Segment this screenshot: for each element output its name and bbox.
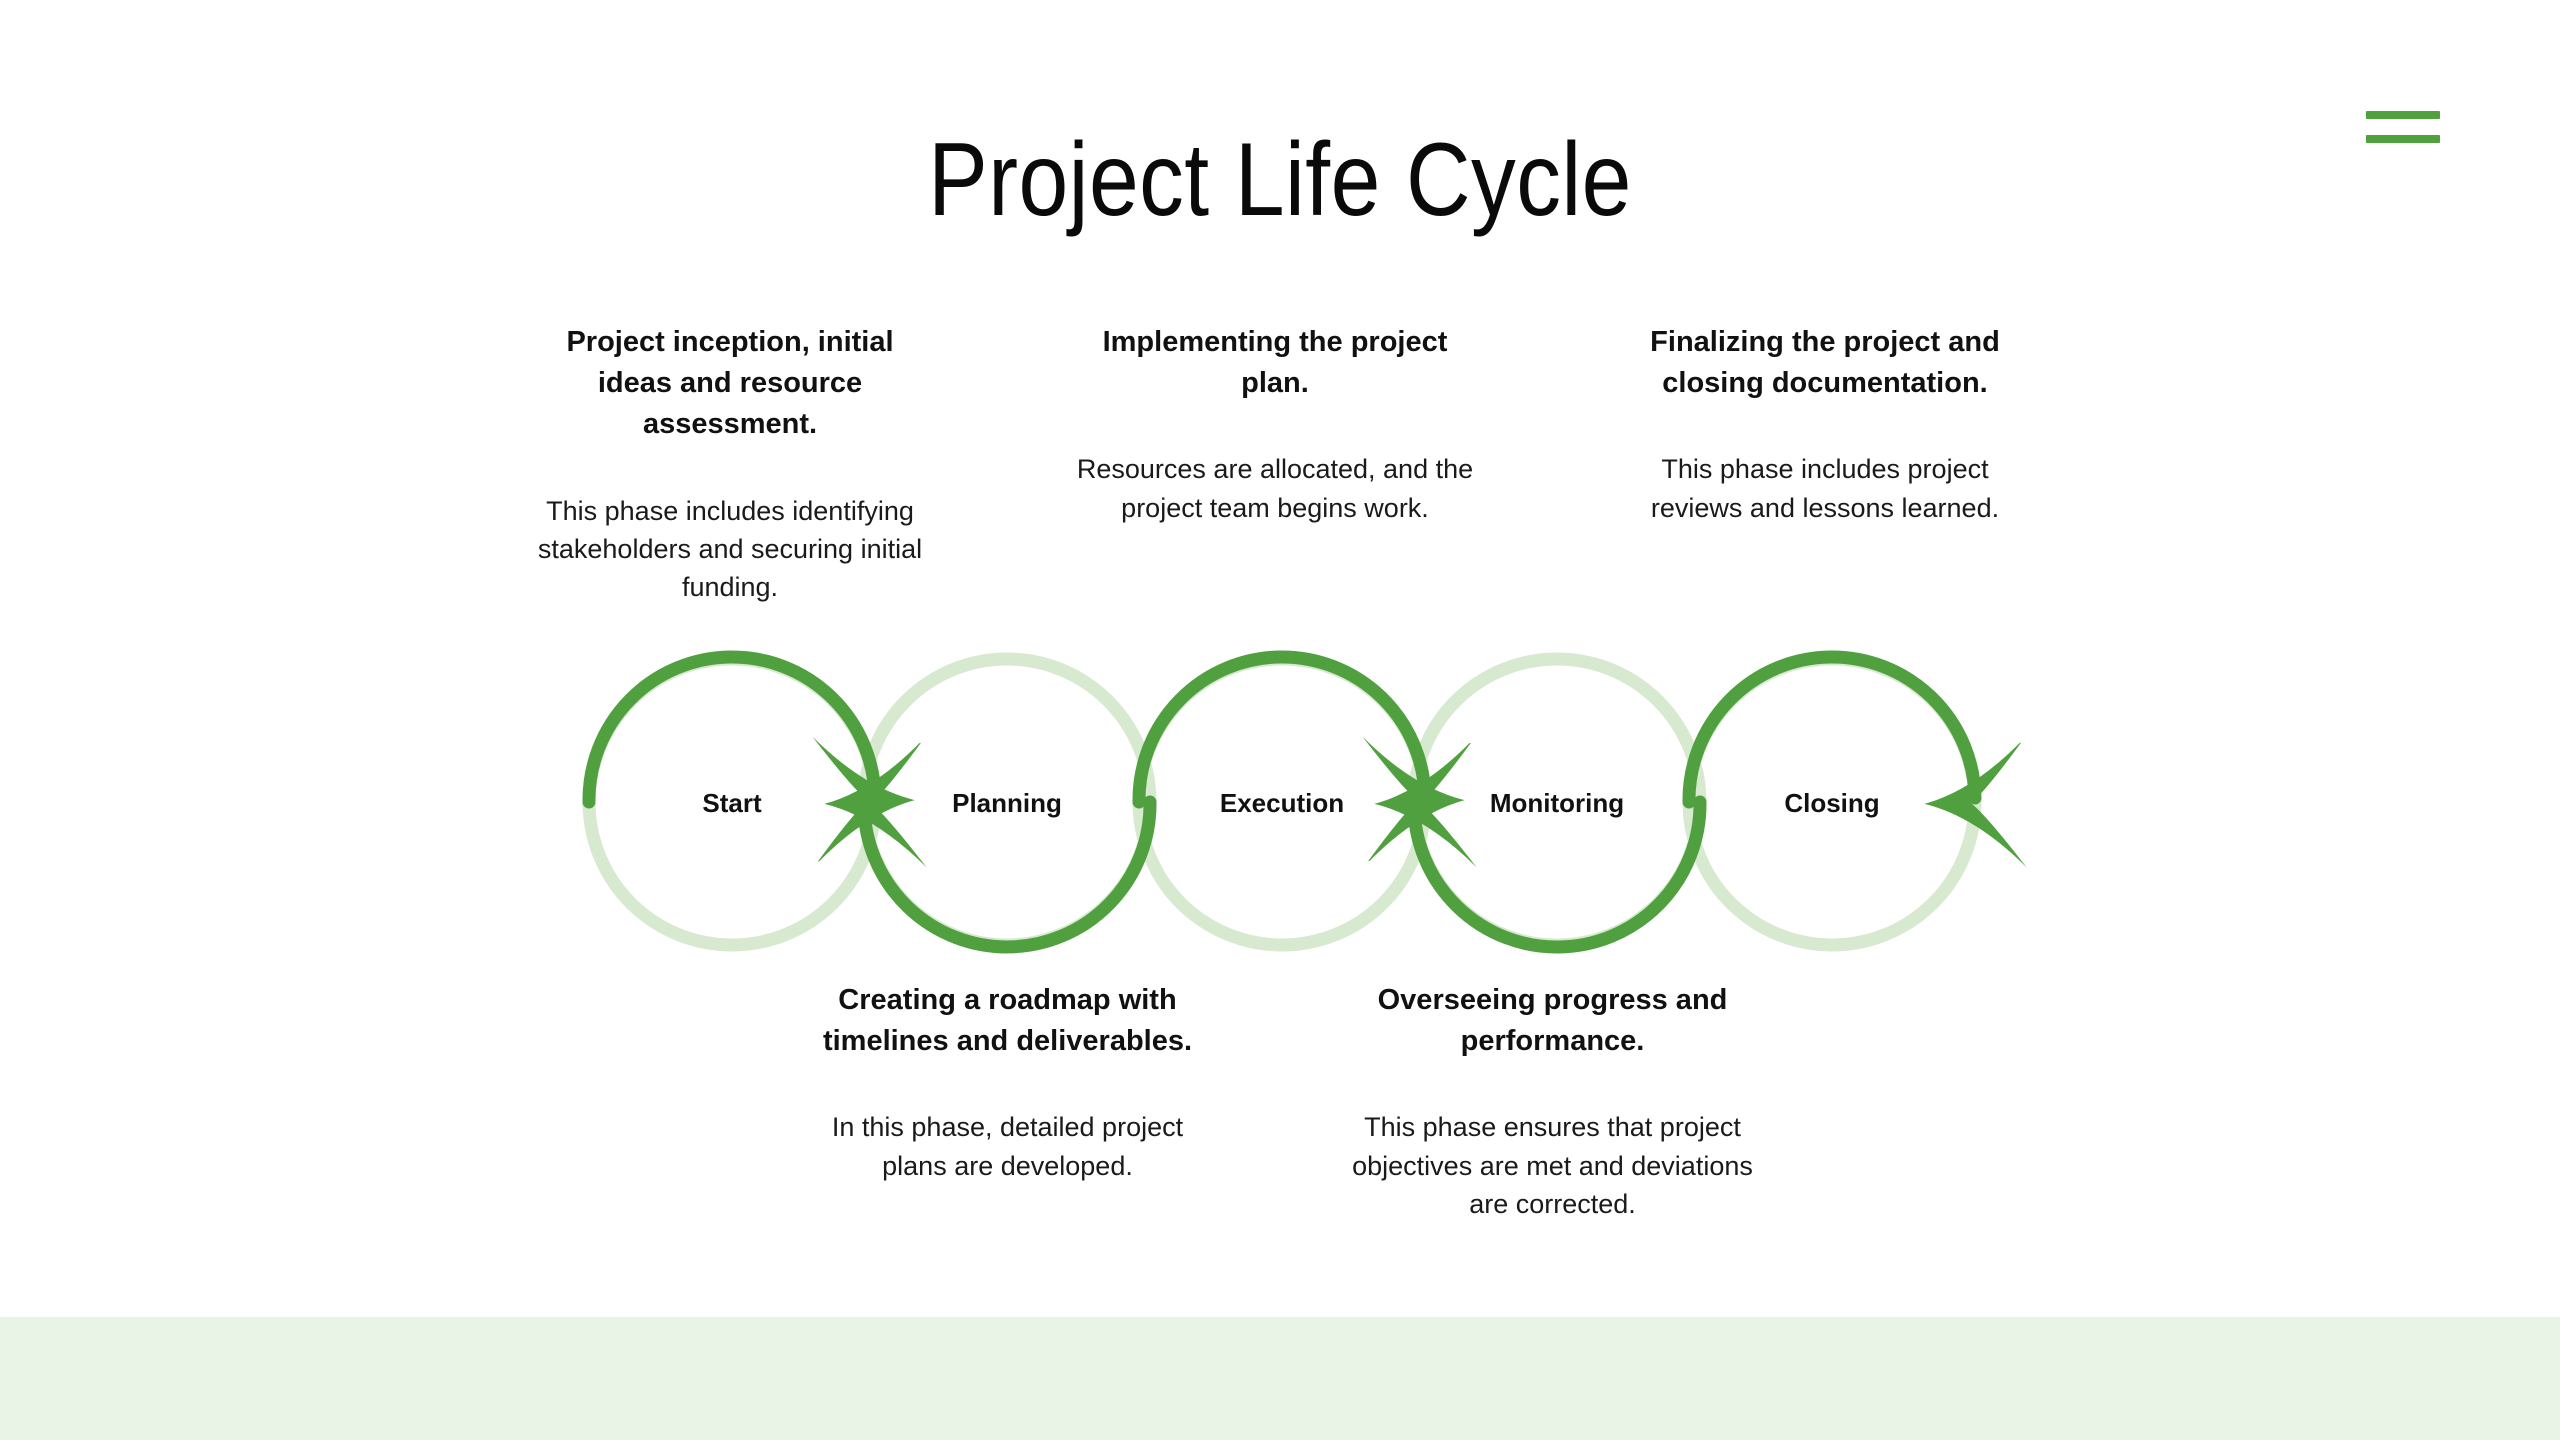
node-label-execution: Execution (1132, 788, 1432, 819)
phase-description: In this phase, detailed project plans ar… (800, 1108, 1215, 1185)
project-life-cycle-diagram: Start Planning Execution Monitoring Clos… (560, 630, 2060, 975)
phase-description: Resources are allocated, and the project… (1075, 450, 1475, 527)
phase-column-monitoring: Overseeing progress and performance. Thi… (1345, 980, 1760, 1223)
phase-column-closing: Finalizing the project and closing docum… (1625, 322, 2025, 527)
bottom-accent-band (0, 1317, 2560, 1440)
page-title: Project Life Cycle (179, 124, 2381, 236)
arc-closing (1689, 657, 1975, 802)
hamburger-bar-top (2366, 111, 2440, 119)
slide-canvas: Project Life Cycle Project inception, in… (0, 0, 2560, 1440)
phase-heading: Creating a roadmap with timelines and de… (800, 980, 1215, 1062)
node-label-closing: Closing (1682, 788, 1982, 819)
arc-start (589, 657, 875, 802)
arc-execution (1139, 657, 1425, 802)
phase-description: This phase ensures that project objectiv… (1345, 1108, 1760, 1223)
phase-description: This phase includes project reviews and … (1625, 450, 2025, 527)
phase-heading: Finalizing the project and closing docum… (1625, 322, 2025, 404)
node-label-start: Start (582, 788, 882, 819)
arc-planning (864, 802, 1150, 947)
node-label-monitoring: Monitoring (1407, 788, 1707, 819)
phase-heading: Overseeing progress and performance. (1345, 980, 1760, 1062)
phase-column-start: Project inception, initial ideas and res… (530, 322, 930, 607)
phase-heading: Implementing the project plan. (1075, 322, 1475, 404)
node-label-planning: Planning (857, 788, 1157, 819)
phase-heading: Project inception, initial ideas and res… (530, 322, 930, 446)
phase-column-execution: Implementing the project plan. Resources… (1075, 322, 1475, 527)
arc-monitoring (1414, 802, 1700, 947)
phase-description: This phase includes identifying stakehol… (530, 492, 930, 607)
phase-column-planning: Creating a roadmap with timelines and de… (800, 980, 1215, 1185)
